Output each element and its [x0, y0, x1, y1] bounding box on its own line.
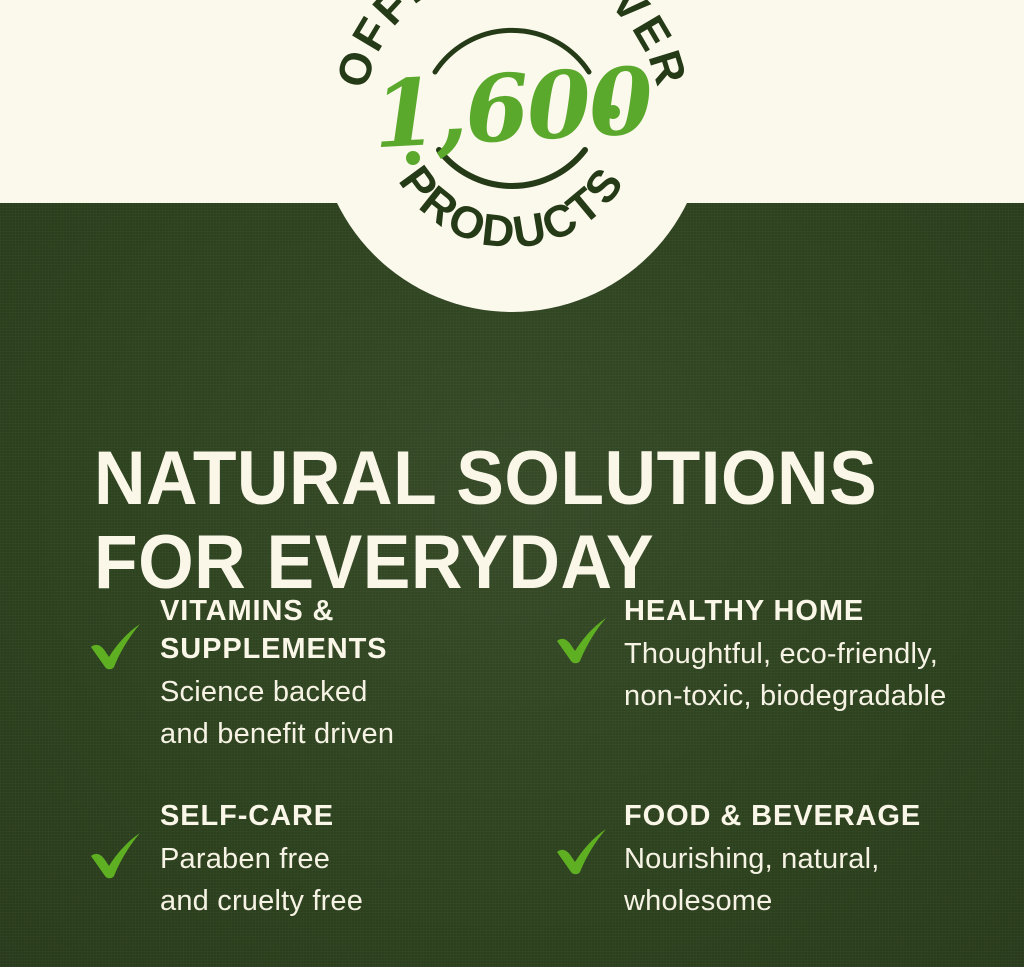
benefit-description: Science backed and benefit driven	[160, 671, 548, 755]
benefit-description-line: and benefit driven	[160, 713, 548, 755]
benefit-title: SELF-CARE	[160, 797, 548, 835]
page-title: NATURAL SOLUTIONS FOR EVERYDAY	[94, 437, 921, 605]
benefit-title-line: VITAMINS &	[160, 592, 548, 630]
benefit-title: FOOD & BEVERAGE	[624, 797, 1006, 835]
benefit-title-line: HEALTHY HOME	[624, 592, 1006, 630]
benefit-item-food-beverage: FOOD & BEVERAGE Nourishing, natural, who…	[548, 797, 1006, 922]
benefit-description-line: wholesome	[624, 880, 1006, 922]
benefit-title: HEALTHY HOME	[624, 592, 1006, 630]
benefit-item-self-care: SELF-CARE Paraben free and cruelty free	[86, 797, 548, 922]
benefit-title-line: SUPPLEMENTS	[160, 630, 548, 668]
benefit-description: Paraben free and cruelty free	[160, 838, 548, 922]
benefit-item-healthy-home: HEALTHY HOME Thoughtful, eco-friendly, n…	[548, 592, 1006, 797]
benefits-grid: VITAMINS & SUPPLEMENTS Science backed an…	[86, 592, 1006, 922]
benefit-description-line: Science backed	[160, 671, 548, 713]
checkmark-icon	[554, 825, 610, 877]
benefit-title-line: SELF-CARE	[160, 797, 548, 835]
benefit-title-line: FOOD & BEVERAGE	[624, 797, 1006, 835]
benefit-description-line: non-toxic, biodegradable	[624, 675, 1006, 717]
benefit-description-line: Paraben free	[160, 838, 548, 880]
checkmark-icon	[88, 620, 144, 672]
benefit-item-vitamins-supplements: VITAMINS & SUPPLEMENTS Science backed an…	[86, 592, 548, 797]
badge-product-count: 1,600	[315, 52, 709, 164]
benefit-description-line: and cruelty free	[160, 880, 548, 922]
product-count-badge: OFFERING OVER PRODUCTS 1,600	[317, 0, 707, 312]
badge-bottom-arc-label: PRODUCTS	[389, 156, 634, 258]
checkmark-icon	[554, 614, 610, 666]
headline-line-1: NATURAL SOLUTIONS	[94, 437, 921, 521]
promotional-poster: OFFERING OVER PRODUCTS 1,600 NATURAL SOL…	[0, 0, 1024, 967]
benefit-description: Thoughtful, eco-friendly, non-toxic, bio…	[624, 633, 1006, 717]
benefit-description: Nourishing, natural, wholesome	[624, 838, 1006, 922]
checkmark-icon	[88, 829, 144, 881]
benefit-description-line: Thoughtful, eco-friendly,	[624, 633, 1006, 675]
benefit-description-line: Nourishing, natural,	[624, 838, 1006, 880]
benefit-title: VITAMINS & SUPPLEMENTS	[160, 592, 548, 668]
